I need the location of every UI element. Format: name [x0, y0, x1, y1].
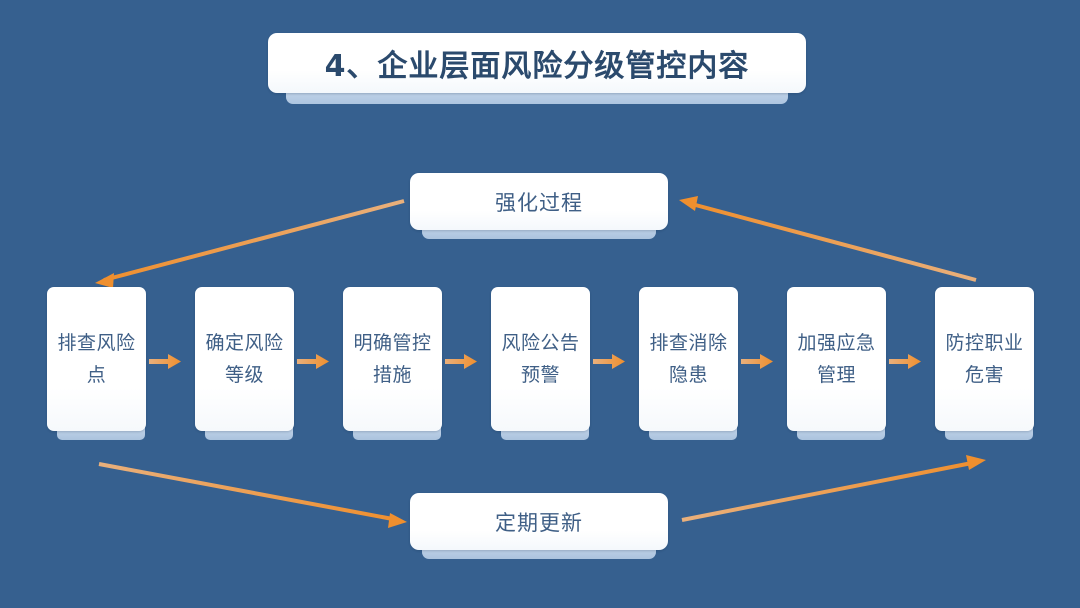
step-label-6: 加强应急管理	[787, 287, 886, 431]
step-label-7: 防控职业危害	[935, 287, 1034, 431]
arrow-bottom-right	[682, 455, 986, 520]
step-box-6[interactable]: 加强应急管理	[787, 287, 886, 431]
arrow-bottom-left	[99, 464, 407, 528]
step-box-2[interactable]: 确定风险等级	[195, 287, 294, 431]
step-label-1: 排查风险点	[47, 287, 146, 431]
step-box-3[interactable]: 明确管控措施	[343, 287, 442, 431]
step-arrow-4	[593, 354, 625, 369]
step-arrow-6	[889, 354, 921, 369]
arrow-top-left	[95, 201, 404, 288]
step-box-7[interactable]: 防控职业危害	[935, 287, 1034, 431]
step-arrow-1	[149, 354, 181, 369]
step-label-3: 明确管控措施	[343, 287, 442, 431]
step-arrow-2	[297, 354, 329, 369]
slide-canvas: 4、企业层面风险分级管控内容	[0, 0, 1080, 608]
side-label-top-text: 强化过程	[410, 173, 668, 230]
step-box-4[interactable]: 风险公告预警	[491, 287, 590, 431]
step-label-4: 风险公告预警	[491, 287, 590, 431]
step-label-5: 排查消除隐患	[639, 287, 738, 431]
step-arrow-3	[445, 354, 477, 369]
step-box-5[interactable]: 排查消除隐患	[639, 287, 738, 431]
step-label-2: 确定风险等级	[195, 287, 294, 431]
title-banner: 4、企业层面风险分级管控内容	[268, 33, 806, 93]
step-arrow-5	[741, 354, 773, 369]
side-label-bottom-text: 定期更新	[410, 493, 668, 550]
side-label-top[interactable]: 强化过程	[410, 173, 668, 230]
page-title: 4、企业层面风险分级管控内容	[268, 33, 806, 93]
side-label-bottom[interactable]: 定期更新	[410, 493, 668, 550]
arrow-top-right	[679, 196, 976, 280]
step-box-1[interactable]: 排查风险点	[47, 287, 146, 431]
